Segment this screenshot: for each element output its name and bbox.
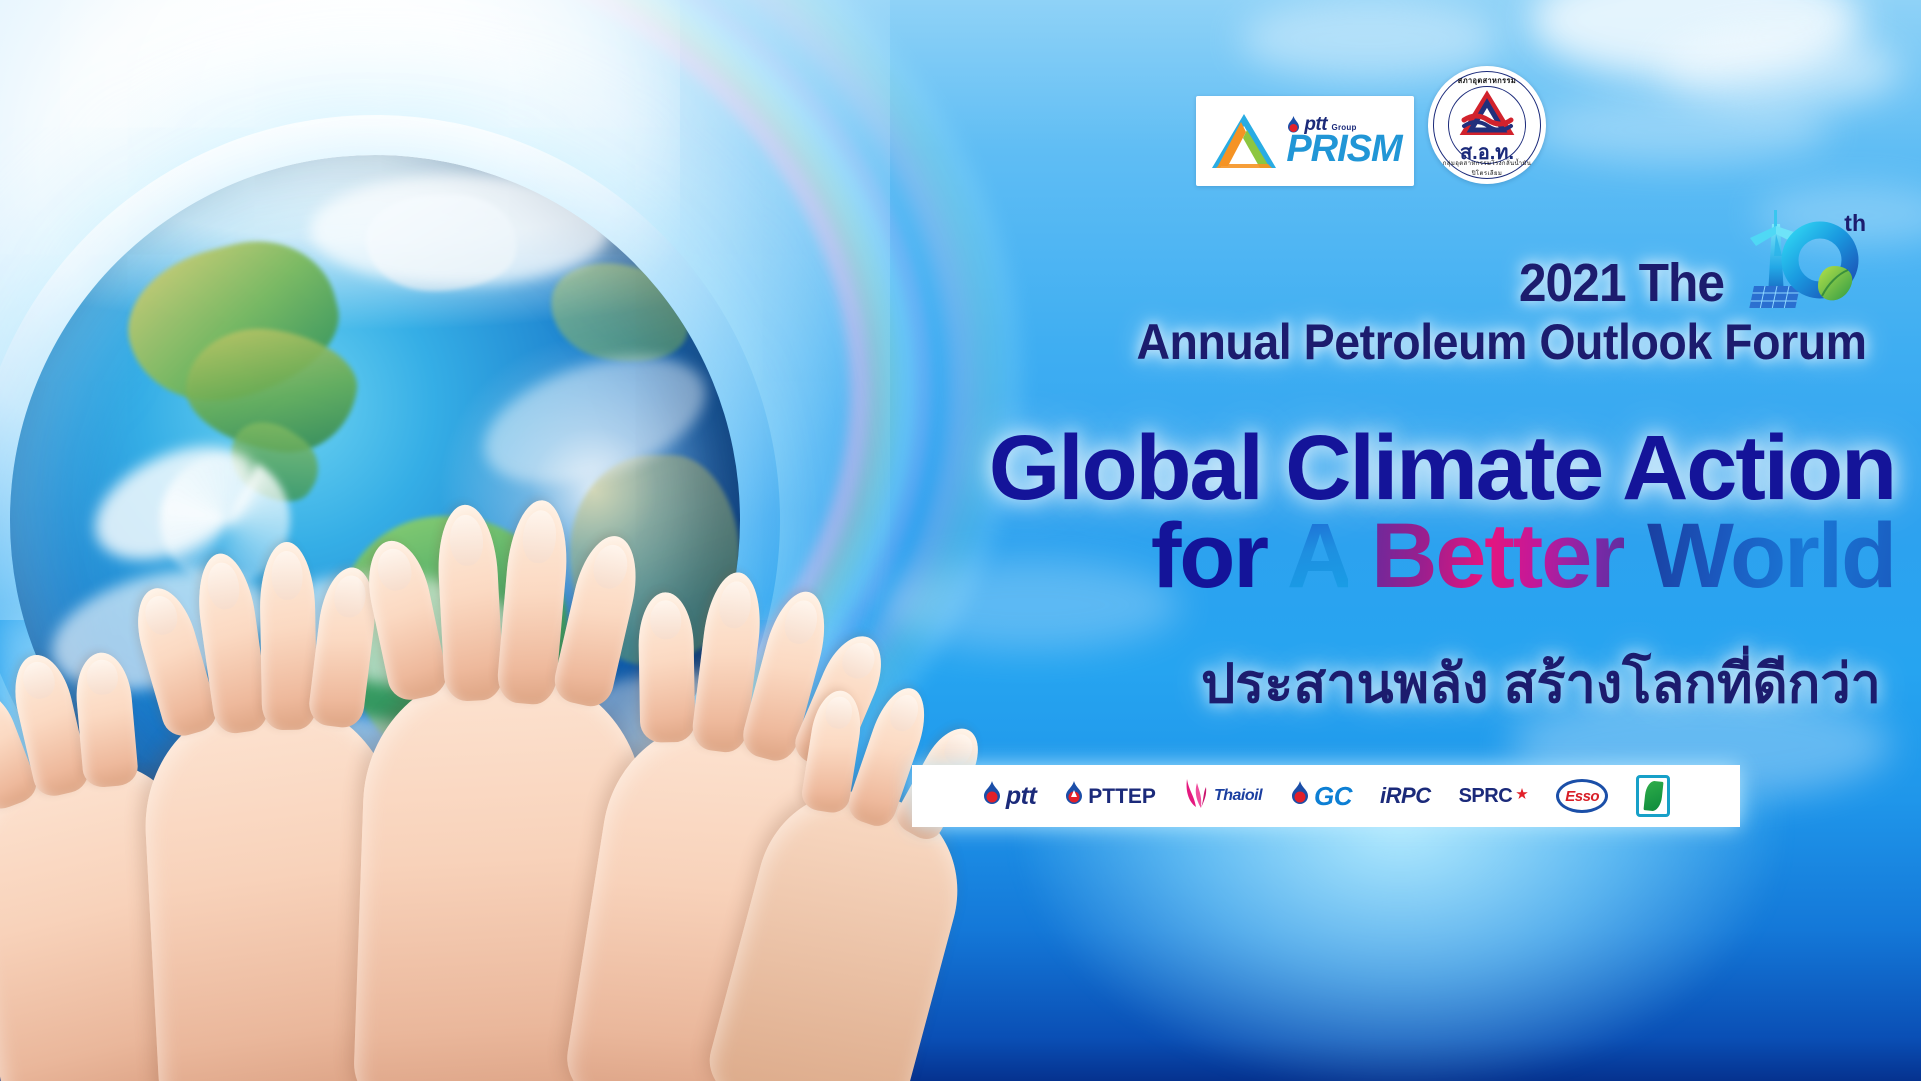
sponsor-logo-irpc: iRPC [1380, 785, 1431, 807]
year-edition-line: 2021 The [820, 222, 1900, 314]
sponsor-logo-pttep: PTTEP [1064, 781, 1156, 812]
magenta-flame-icon [1184, 777, 1210, 816]
headline-line-1: Global Climate Action [755, 422, 1895, 516]
cloud-4 [1240, 0, 1500, 80]
flame-drop-icon [1064, 781, 1084, 812]
cloud-band-polar [310, 175, 610, 285]
sponsor-label-sprc: SPRC [1459, 786, 1513, 806]
sponsor-logo-thaioil: Thaioil [1184, 777, 1262, 816]
flame-drop-icon [1290, 781, 1310, 812]
headline-word-better: Better [1371, 505, 1624, 607]
sponsor-logo-gc: GC [1290, 781, 1352, 812]
bottom-glow [1020, 790, 1780, 1081]
sponsor-label-ptt: ptt [1006, 784, 1036, 809]
organizer-logos: ptt Group PRISM สภาอุตสาหกรรม ส.อ.ท. [1196, 96, 1546, 186]
sponsor-label-esso: Esso [1565, 788, 1599, 805]
sponsor-logo-bar: ptt PTTEP Thaioil [912, 765, 1740, 827]
prism-wordmark: PRISM [1286, 132, 1401, 167]
hands-group [0, 560, 980, 1081]
headline-line-2: for A Better World [755, 510, 1895, 604]
sponsor-label-irpc: iRPC [1380, 785, 1431, 807]
thai-tagline: ประสานพลัง สร้างโลกที่ดีกว่า [781, 640, 1881, 726]
ptt-flame-drop-icon [1286, 116, 1301, 135]
cloud-3 [1530, 95, 1830, 165]
prism-wordmark-group: ptt Group PRISM [1286, 115, 1401, 167]
fti-arc-top-text: สภาอุตสาหกรรม [1428, 75, 1546, 87]
ordinal-suffix: th [1844, 210, 1866, 237]
year-label: 2021 The [1519, 256, 1724, 310]
headline-word-for: for [1151, 505, 1267, 607]
sponsor-label-pttep: PTTEP [1088, 786, 1156, 807]
headline-word-world: World [1647, 505, 1895, 607]
sponsor-logo-bangchak [1636, 775, 1670, 817]
star-icon [1516, 787, 1528, 805]
sponsor-logo-sprc: SPRC [1459, 786, 1529, 806]
leaf-square-icon [1643, 780, 1663, 812]
sponsor-logo-ptt: ptt [982, 781, 1036, 812]
event-name: Annual Petroleum Outlook Forum [896, 314, 1900, 370]
prism-triangle-icon [1208, 110, 1280, 172]
banner-canvas: ptt Group PRISM สภาอุตสาหกรรม ส.อ.ท. [0, 0, 1921, 1081]
headline-block: Global Climate Action for A Better World [755, 422, 1895, 604]
sponsor-logo-esso: Esso [1556, 779, 1608, 813]
fti-arc-bottom-text: กลุ่มอุตสาหกรรมโรงกลั่นน้ำมันปิโตรเลียม [1428, 158, 1546, 178]
headline-word-a: A [1287, 505, 1348, 607]
flame-drop-icon [982, 781, 1002, 812]
prism-logo: ptt Group PRISM [1196, 96, 1414, 186]
sponsor-label-gc: GC [1314, 783, 1352, 809]
fti-logo: สภาอุตสาหกรรม ส.อ.ท. กลุ่มอุตสาหกรรมโรงก… [1428, 66, 1546, 184]
event-title-block: 2021 The [820, 222, 1900, 370]
tenth-edition-mark: th [1734, 204, 1864, 314]
landmass-europe [542, 251, 699, 374]
sponsor-label-thaioil: Thaioil [1214, 788, 1262, 804]
